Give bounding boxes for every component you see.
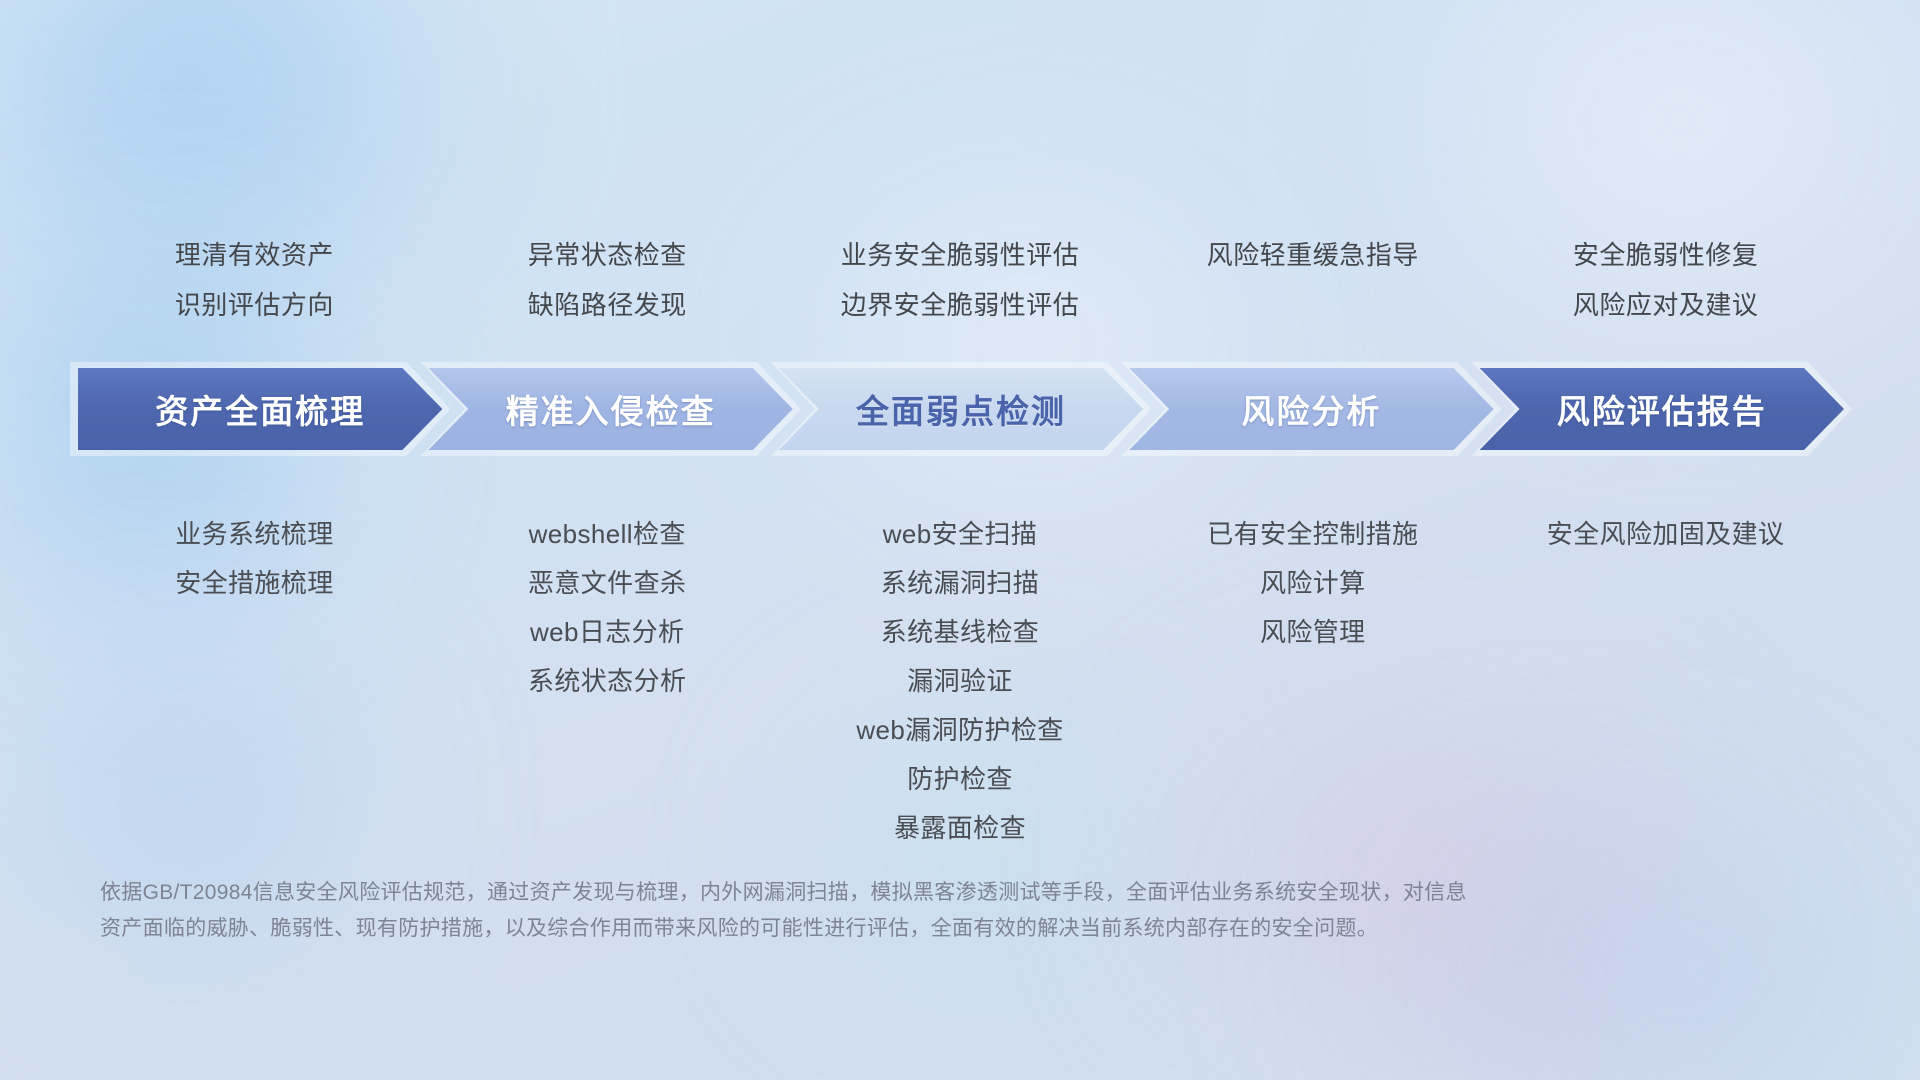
stage-task-item: web安全扫描 xyxy=(784,510,1137,559)
stage-task-item: 已有安全控制措施 xyxy=(1136,510,1489,559)
arrow-body: 精准入侵检查 xyxy=(428,368,792,450)
stage-task-item: 安全风险加固及建议 xyxy=(1489,510,1842,559)
stage-task-item: 系统漏洞扫描 xyxy=(784,559,1137,608)
stage-tasks-weakness-detection: web安全扫描系统漏洞扫描系统基线检查漏洞验证web漏洞防护检查防护检查暴露面检… xyxy=(784,510,1137,853)
arrow-body: 风险评估报告 xyxy=(1480,368,1844,450)
process-arrow-intrusion-check[interactable]: 精准入侵检查 xyxy=(428,368,792,450)
arrow-label-weakness-detection: 全面弱点检测 xyxy=(856,385,1066,433)
process-arrow-weakness-detection[interactable]: 全面弱点检测 xyxy=(779,368,1143,450)
arrow-label-risk-analysis: 风险分析 xyxy=(1241,385,1381,433)
arrow-body: 全面弱点检测 xyxy=(779,368,1143,450)
stage-task-item: 防护检查 xyxy=(784,755,1137,804)
stage-task-item: 暴露面检查 xyxy=(784,804,1137,853)
stage-task-item: 风险管理 xyxy=(1136,608,1489,657)
stage-input-item: 识别评估方向 xyxy=(78,280,431,330)
stage-task-item: web漏洞防护检查 xyxy=(784,706,1137,755)
stage-task-item: 系统基线检查 xyxy=(784,608,1137,657)
stage-tasks-risk-analysis: 已有安全控制措施风险计算风险管理 xyxy=(1136,510,1489,657)
stage-input-item: 缺陷路径发现 xyxy=(431,280,784,330)
stage-input-item: 边界安全脆弱性评估 xyxy=(784,280,1137,330)
slide-canvas: 理清有效资产识别评估方向业务系统梳理安全措施梳理异常状态检查缺陷路径发现webs… xyxy=(0,0,1920,1080)
arrow-body: 资产全面梳理 xyxy=(78,368,442,450)
process-arrow-banner: 资产全面梳理精准入侵检查全面弱点检测风险分析风险评估报告 xyxy=(78,368,1844,450)
arrow-label-intrusion-check: 精准入侵检查 xyxy=(506,385,716,433)
footer-line-1: 依据GB/T20984信息安全风险评估规范，通过资产发现与梳理，内外网漏洞扫描，… xyxy=(100,875,1630,911)
stage-input-item: 风险应对及建议 xyxy=(1489,280,1842,330)
stage-task-item: 风险计算 xyxy=(1136,559,1489,608)
stage-input-item: 业务安全脆弱性评估 xyxy=(784,230,1137,280)
stage-tasks-risk-report: 安全风险加固及建议 xyxy=(1489,510,1842,559)
stage-tasks-intrusion-check: webshell检查恶意文件查杀web日志分析系统状态分析 xyxy=(431,510,784,706)
process-arrow-risk-analysis[interactable]: 风险分析 xyxy=(1129,368,1493,450)
footer-line-2: 资产面临的威胁、脆弱性、现有防护措施，以及综合作用而带来风险的可能性进行评估，全… xyxy=(100,911,1630,947)
stage-inputs-risk-report: 安全脆弱性修复风险应对及建议 xyxy=(1489,230,1842,330)
stage-inputs-weakness-detection: 业务安全脆弱性评估边界安全脆弱性评估 xyxy=(784,230,1137,330)
stage-tasks-asset-inventory: 业务系统梳理安全措施梳理 xyxy=(78,510,431,608)
footer-description: 依据GB/T20984信息安全风险评估规范，通过资产发现与梳理，内外网漏洞扫描，… xyxy=(100,875,1630,947)
stage-input-item: 异常状态检查 xyxy=(431,230,784,280)
stage-task-item: web日志分析 xyxy=(431,608,784,657)
stage-input-item: 理清有效资产 xyxy=(78,230,431,280)
stage-input-item: 安全脆弱性修复 xyxy=(1489,230,1842,280)
stage-task-item: 系统状态分析 xyxy=(431,657,784,706)
stage-task-item: 恶意文件查杀 xyxy=(431,559,784,608)
stage-inputs-intrusion-check: 异常状态检查缺陷路径发现 xyxy=(431,230,784,330)
stage-input-item: 风险轻重缓急指导 xyxy=(1136,230,1489,280)
arrow-label-risk-report: 风险评估报告 xyxy=(1557,385,1767,433)
stage-inputs-asset-inventory: 理清有效资产识别评估方向 xyxy=(78,230,431,330)
stage-task-item: 安全措施梳理 xyxy=(78,559,431,608)
stage-task-item: 漏洞验证 xyxy=(784,657,1137,706)
stage-task-item: webshell检查 xyxy=(431,510,784,559)
process-arrow-asset-inventory[interactable]: 资产全面梳理 xyxy=(78,368,442,450)
process-arrow-risk-report[interactable]: 风险评估报告 xyxy=(1480,368,1844,450)
stage-inputs-risk-analysis: 风险轻重缓急指导 xyxy=(1136,230,1489,280)
stage-task-item: 业务系统梳理 xyxy=(78,510,431,559)
arrow-label-asset-inventory: 资产全面梳理 xyxy=(155,385,365,433)
arrow-body: 风险分析 xyxy=(1129,368,1493,450)
